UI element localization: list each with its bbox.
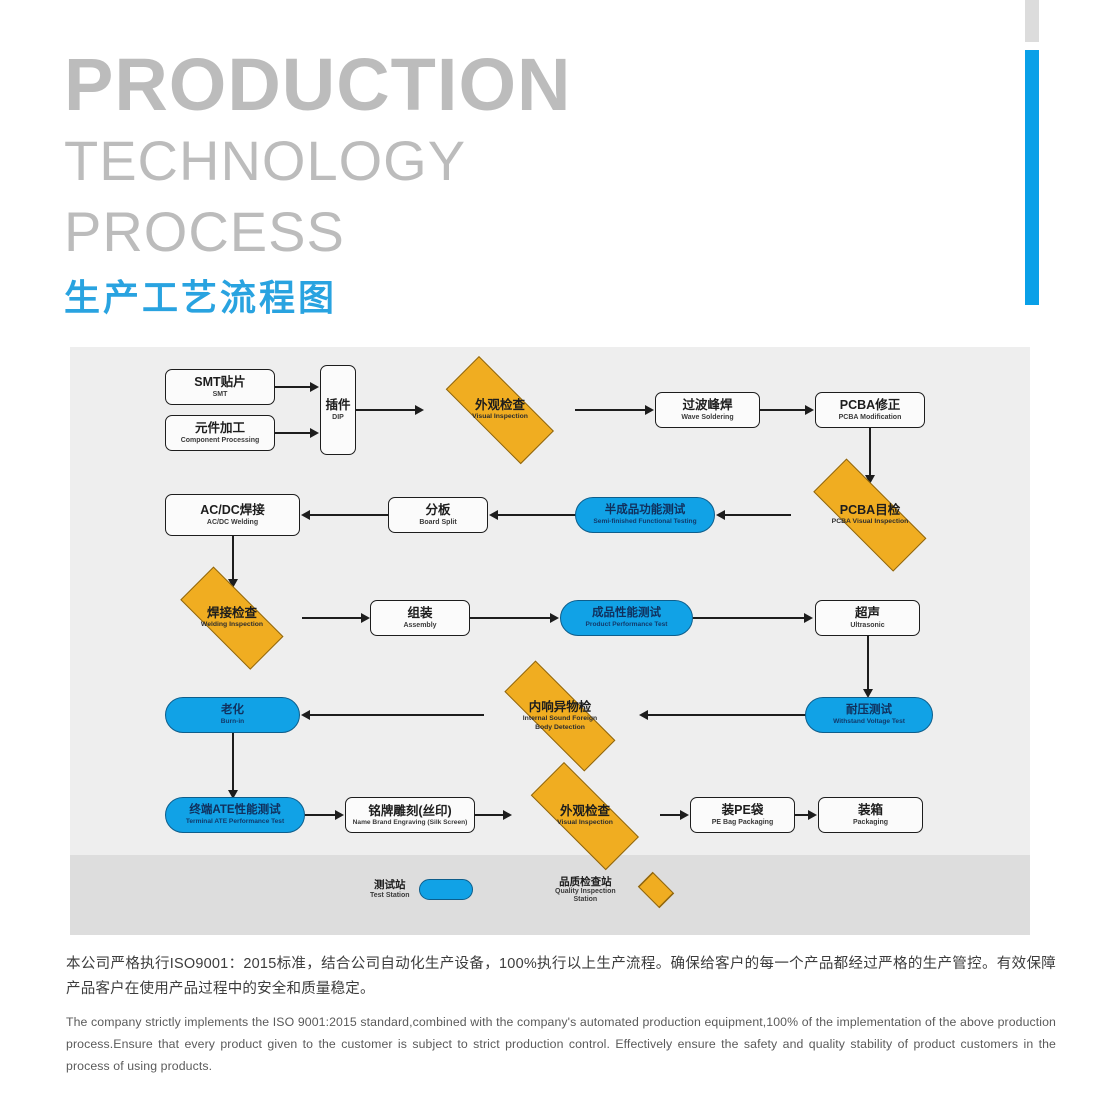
node-semi-finished-functional-testing-en: Semi-finished Functional Testing [593, 518, 696, 525]
node-board-split-en: Board Split [419, 519, 456, 527]
edge-visual2-to-pebag-arrow [680, 810, 689, 820]
footer-text-block: 本公司严格执行ISO9001：2015标准，结合公司自动化生产设备，100%执行… [66, 952, 1056, 1077]
node-welding-inspection-en: Welding Inspection [201, 621, 263, 629]
edge-split-to-acdc [310, 514, 389, 516]
node-dip-en: DIP [332, 414, 344, 422]
edge-semifn-to-split-arrow [489, 510, 498, 520]
node-wave-soldering[interactable]: 过波峰焊 Wave Soldering [655, 392, 760, 428]
legend-quality-station-swatch [625, 875, 687, 905]
node-pe-bag-packaging-en: PE Bag Packaging [712, 819, 773, 827]
footer-paragraph-english: The company strictly implements the ISO … [66, 1012, 1056, 1078]
node-component-processing[interactable]: 元件加工 Component Processing [165, 415, 275, 451]
page-subtitle-chinese: 生产工艺流程图 [64, 280, 337, 316]
legend-quality-station: 品质检查站 Quality Inspection Station [555, 875, 687, 905]
edge-smt-to-dip [275, 386, 311, 388]
node-ultrasonic[interactable]: 超声 Ultrasonic [815, 600, 920, 636]
edge-wave-to-pcbamod [760, 409, 806, 411]
node-board-split-cn: 分板 [425, 503, 450, 517]
decorative-gray-bar [1025, 0, 1039, 42]
flowchart-panel: SMT贴片 SMT 元件加工 Component Processing 插件 D… [70, 347, 1030, 855]
node-name-brand-engraving-cn: 铭牌雕刻(丝印) [368, 804, 451, 818]
title-line-technology: TECHNOLOGY [64, 133, 466, 189]
edge-dip-to-visual1 [356, 409, 416, 411]
edge-pcbamod-to-pcbavis [869, 428, 871, 480]
node-internal-sound-cn: 内响异物检 [529, 700, 592, 714]
legend-quality-station-label: 品质检查站 Quality Inspection Station [555, 876, 616, 904]
decorative-blue-bar [1025, 50, 1039, 305]
node-ultrasonic-en: Ultrasonic [850, 622, 884, 630]
edge-ultra-to-withstand [867, 636, 869, 694]
node-component-processing-cn: 元件加工 [195, 421, 245, 435]
node-burn-in-en: Burn-in [221, 718, 244, 725]
node-withstand-voltage-test-cn: 耐压测试 [846, 704, 892, 717]
node-product-performance-test-cn: 成品性能测试 [592, 607, 661, 620]
node-visual-inspection-1-cn: 外观检查 [475, 398, 525, 412]
node-packaging-cn: 装箱 [858, 803, 883, 817]
edge-semifn-to-split [498, 514, 576, 516]
node-wave-soldering-cn: 过波峰焊 [682, 398, 732, 412]
legend-panel: 测试站 Test Station 品质检查站 Quality Inspectio… [70, 855, 1030, 935]
edge-ate-to-engrave [305, 814, 336, 816]
node-component-processing-en: Component Processing [181, 437, 260, 445]
edge-weldins-to-assembly-arrow [361, 613, 370, 623]
node-assembly-cn: 组装 [407, 606, 432, 620]
node-ultrasonic-cn: 超声 [855, 606, 880, 620]
edge-pebag-to-packing-arrow [808, 810, 817, 820]
edge-weldins-to-assembly [302, 617, 362, 619]
edge-component-to-dip [275, 432, 311, 434]
node-pcba-visual-inspection[interactable]: PCBA目检 PCBA Visual Inspection [790, 482, 950, 548]
edge-assembly-to-prodperf-arrow [550, 613, 559, 623]
edge-visual1-to-wave [575, 409, 646, 411]
edge-pebag-to-packing [795, 814, 809, 816]
node-semi-finished-functional-testing-cn: 半成品功能测试 [605, 504, 686, 517]
legend-test-station-en: Test Station [370, 892, 410, 900]
node-name-brand-engraving-en: Name Brand Engraving (Silk Screen) [353, 819, 468, 826]
edge-wave-to-pcbamod-arrow [805, 405, 814, 415]
edge-intsound-to-burnin [310, 714, 484, 716]
node-packaging[interactable]: 装箱 Packaging [818, 797, 923, 833]
edge-assembly-to-prodperf [470, 617, 551, 619]
node-smt-cn: SMT贴片 [194, 375, 245, 389]
node-pcba-visual-inspection-cn: PCBA目检 [840, 503, 900, 517]
edge-prodperf-to-ultra [693, 617, 805, 619]
node-name-brand-engraving[interactable]: 铭牌雕刻(丝印) Name Brand Engraving (Silk Scre… [345, 797, 475, 833]
node-visual-inspection-2[interactable]: 外观检查 Visual Inspection [510, 783, 660, 849]
node-welding-inspection[interactable]: 焊接检查 Welding Inspection [162, 585, 302, 651]
edge-pcbavis-to-semifn-arrow [716, 510, 725, 520]
legend-test-station-swatch [419, 879, 473, 900]
node-burn-in[interactable]: 老化 Burn-in [165, 697, 300, 733]
legend-test-station-cn: 测试站 [370, 879, 410, 891]
node-semi-finished-functional-testing[interactable]: 半成品功能测试 Semi-finished Functional Testing [575, 497, 715, 533]
node-acdc-welding-en: AC/DC Welding [207, 519, 258, 527]
node-terminal-ate-cn: 终端ATE性能测试 [189, 804, 280, 817]
legend-test-station: 测试站 Test Station [370, 879, 473, 900]
node-smt-en: SMT [213, 391, 228, 399]
edge-intsound-to-burnin-arrow [301, 710, 310, 720]
node-withstand-voltage-test-en: Withstand Voltage Test [833, 718, 905, 725]
edge-ate-to-engrave-arrow [335, 810, 344, 820]
edge-prodperf-to-ultra-arrow [804, 613, 813, 623]
legend-quality-station-cn: 品质检查站 [555, 876, 616, 888]
node-visual-inspection-2-cn: 外观检查 [560, 804, 610, 818]
node-visual-inspection-2-en: Visual Inspection [557, 819, 613, 827]
node-dip-cn: 插件 [325, 398, 350, 412]
legend-quality-station-en-1: Quality Inspection [555, 888, 616, 896]
edge-engrave-to-visual2 [475, 814, 504, 816]
node-assembly[interactable]: 组装 Assembly [370, 600, 470, 636]
node-pe-bag-packaging-cn: 装PE袋 [722, 803, 764, 817]
node-internal-sound-en-2: Body Detection [535, 724, 585, 732]
edge-visual2-to-pebag [660, 814, 681, 816]
node-welding-inspection-cn: 焊接检查 [207, 606, 257, 620]
node-visual-inspection-1-en: Visual Inspection [472, 413, 528, 421]
node-burn-in-cn: 老化 [221, 704, 244, 717]
node-visual-inspection-1[interactable]: 外观检查 Visual Inspection [425, 377, 575, 443]
node-acdc-welding-cn: AC/DC焊接 [200, 503, 265, 517]
node-internal-sound-en-1: Internal Sound Foreign [523, 715, 597, 723]
title-line-process: PROCESS [64, 204, 345, 260]
node-packaging-en: Packaging [853, 819, 888, 827]
page-header: PRODUCTION TECHNOLOGY PROCESS 生产工艺流程图 [0, 0, 1100, 340]
node-product-performance-test[interactable]: 成品性能测试 Product Performance Test [560, 600, 693, 636]
node-pe-bag-packaging[interactable]: 装PE袋 PE Bag Packaging [690, 797, 795, 833]
node-internal-sound-foreign-body-detection[interactable]: 内响异物检 Internal Sound Foreign Body Detect… [480, 685, 640, 747]
node-terminal-ate-en: Terminal ATE Performance Test [186, 818, 284, 825]
node-dip[interactable]: 插件 DIP [320, 365, 356, 455]
node-withstand-voltage-test[interactable]: 耐压测试 Withstand Voltage Test [805, 697, 933, 733]
legend-test-station-label: 测试站 Test Station [370, 879, 410, 899]
node-product-performance-test-en: Product Performance Test [586, 621, 668, 628]
node-board-split[interactable]: 分板 Board Split [388, 497, 488, 533]
edge-burnin-to-ate [232, 733, 234, 795]
edge-visual1-to-wave-arrow [645, 405, 654, 415]
edge-smt-to-dip-arrow [310, 382, 319, 392]
edge-acdc-to-weldins [232, 536, 234, 584]
edge-pcbavis-to-semifn [725, 514, 791, 516]
edge-withstand-to-intsound [648, 714, 808, 716]
node-pcba-modification[interactable]: PCBA修正 PCBA Modification [815, 392, 925, 428]
node-wave-soldering-en: Wave Soldering [681, 414, 733, 422]
title-line-production: PRODUCTION [64, 48, 571, 122]
node-pcba-visual-inspection-en: PCBA Visual Inspection [832, 518, 909, 526]
node-pcba-modification-cn: PCBA修正 [840, 398, 900, 412]
diamond-shape [637, 872, 673, 908]
node-assembly-en: Assembly [403, 622, 436, 630]
footer-paragraph-chinese: 本公司严格执行ISO9001：2015标准，结合公司自动化生产设备，100%执行… [66, 952, 1056, 1003]
node-terminal-ate-performance-test[interactable]: 终端ATE性能测试 Terminal ATE Performance Test [165, 797, 305, 833]
edge-split-to-acdc-arrow [301, 510, 310, 520]
edge-dip-to-visual1-arrow [415, 405, 424, 415]
node-pcba-modification-en: PCBA Modification [839, 414, 902, 422]
edge-component-to-dip-arrow [310, 428, 319, 438]
edge-withstand-to-intsound-arrow [639, 710, 648, 720]
node-acdc-welding[interactable]: AC/DC焊接 AC/DC Welding [165, 494, 300, 536]
node-smt[interactable]: SMT贴片 SMT [165, 369, 275, 405]
legend-quality-station-en-2: Station [555, 896, 616, 904]
